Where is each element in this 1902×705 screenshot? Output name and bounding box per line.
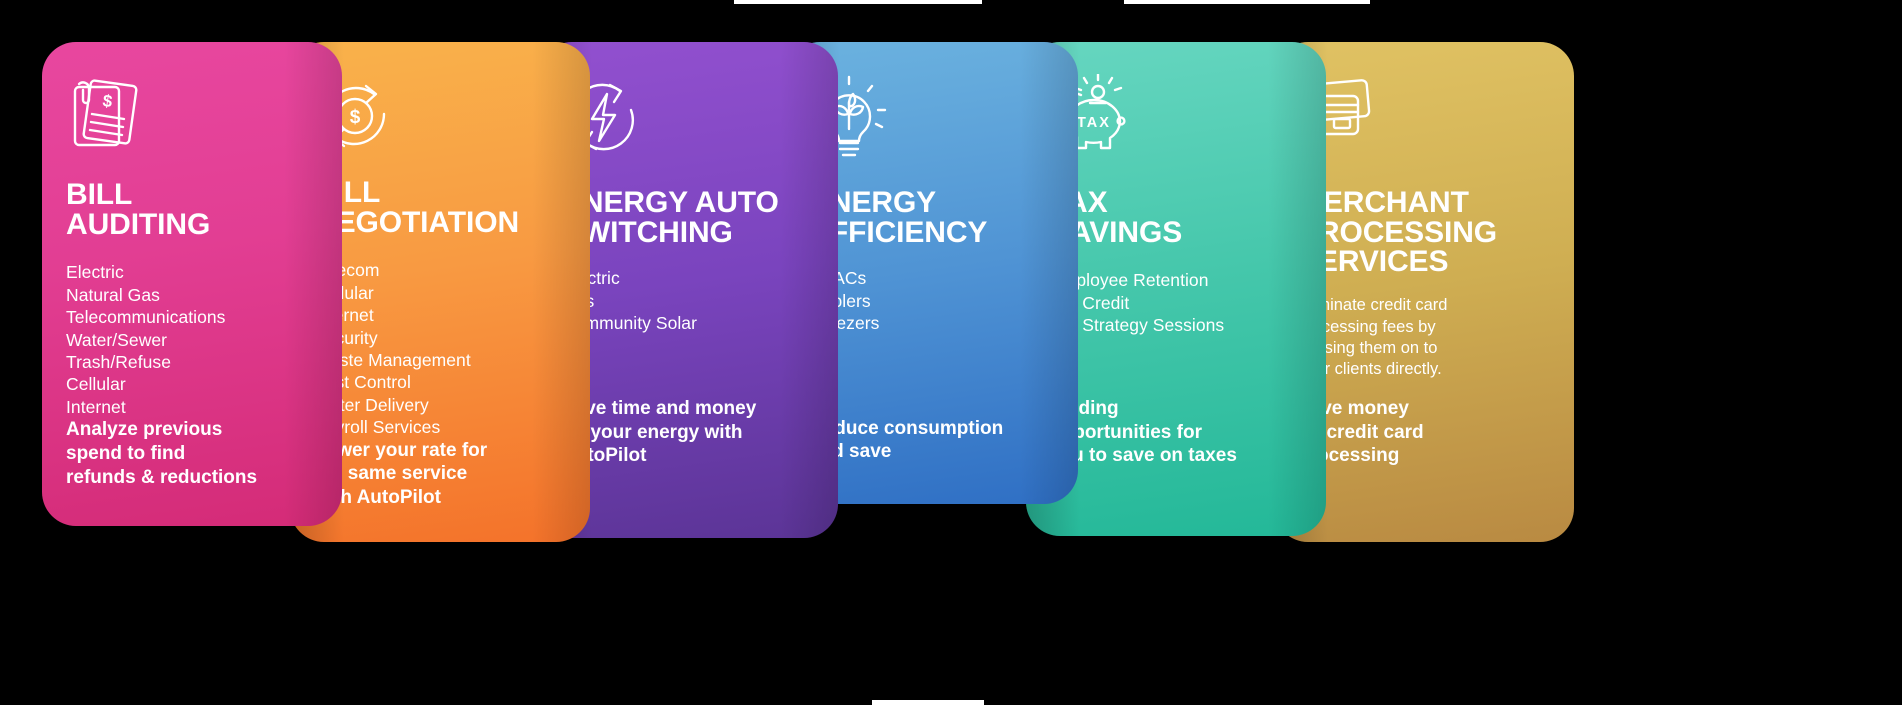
list-item: Cellular xyxy=(66,373,318,395)
card-tagline: Analyze previous spend to find refunds &… xyxy=(66,418,318,526)
list-item: Electric xyxy=(66,261,318,283)
list-item: Payroll Services xyxy=(314,416,566,438)
svg-text:TAX: TAX xyxy=(1077,115,1111,131)
list-item: Employee Retention xyxy=(1050,269,1302,291)
lightbulb-leaf-icon xyxy=(810,74,1054,170)
list-item: Water Delivery xyxy=(314,394,566,416)
card-deck: $ BILL AUDITING Electric Natural Gas Tel… xyxy=(42,42,1850,542)
list-item: Telecommunications xyxy=(66,306,318,328)
list-item: Electric xyxy=(562,267,814,289)
card-tagline: Lower your rate for the same service wit… xyxy=(314,439,566,543)
list-item: Water/Sewer xyxy=(66,329,318,351)
document-dollar-icon: $ xyxy=(66,74,318,162)
card-title: BILL AUDITING xyxy=(66,180,318,239)
card-tagline: Finding opportunities for you to save on… xyxy=(1050,397,1302,536)
list-item: Tax Strategy Sessions xyxy=(1050,314,1302,336)
list-item: Gas xyxy=(562,290,814,312)
list-item: Telecom xyxy=(314,259,566,281)
card-tagline: Save money on credit card processing xyxy=(1298,397,1550,542)
list-item: HVACs xyxy=(810,267,1054,289)
svg-text:$: $ xyxy=(350,107,361,128)
bottom-notch xyxy=(872,700,984,705)
service-card-bill-auditing[interactable]: $ BILL AUDITING Electric Natural Gas Tel… xyxy=(42,42,342,526)
feature-list: Electric Gas Community Solar xyxy=(562,267,814,334)
card-tagline: Save time and money on your energy with … xyxy=(562,397,814,538)
refresh-coin-icon: $ xyxy=(314,74,566,160)
piggy-bank-tax-icon: TAX xyxy=(1050,74,1302,170)
feature-list: HVACs Coolers Freezers xyxy=(810,267,1054,334)
refresh-bolt-icon xyxy=(562,74,814,170)
card-tagline: Reduce consumption and save xyxy=(810,417,1054,505)
svg-text:$: $ xyxy=(101,91,114,111)
list-item: Pest Control xyxy=(314,371,566,393)
list-item: Freezers xyxy=(810,312,1054,334)
list-item: Natural Gas xyxy=(66,284,318,306)
list-item: Tax Credit xyxy=(1050,292,1302,314)
list-item: Coolers xyxy=(810,290,1054,312)
list-item: Trash/Refuse xyxy=(66,351,318,373)
top-notch-right xyxy=(1124,0,1370,4)
list-item: Cellular xyxy=(314,282,566,304)
feature-list: Electric Natural Gas Telecommunications … xyxy=(66,261,318,418)
card-title: ENERGY AUTO SWITCHING xyxy=(562,188,814,247)
feature-list: Employee Retention Tax Credit Tax Strate… xyxy=(1050,269,1302,336)
list-item: Community Solar xyxy=(562,312,814,334)
card-title: ENERGY EFFICIENCY xyxy=(810,188,1054,247)
list-item: Internet xyxy=(314,304,566,326)
feature-list: Telecom Cellular Internet Security Waste… xyxy=(314,259,566,438)
top-notch-left xyxy=(734,0,982,4)
card-title: BILL NEGOTIATION xyxy=(314,178,566,237)
card-title: MERCHANT PROCESSING SERVICES xyxy=(1298,188,1550,277)
list-item: Security xyxy=(314,327,566,349)
card-description: Eliminate credit card processing fees by… xyxy=(1298,295,1550,381)
card-title: TAX SAVINGS xyxy=(1050,188,1302,247)
services-cards-graphic: $ BILL AUDITING Electric Natural Gas Tel… xyxy=(0,0,1902,705)
list-item: Internet xyxy=(66,396,318,418)
credit-cards-icon xyxy=(1298,74,1550,170)
list-item: Waste Management xyxy=(314,349,566,371)
